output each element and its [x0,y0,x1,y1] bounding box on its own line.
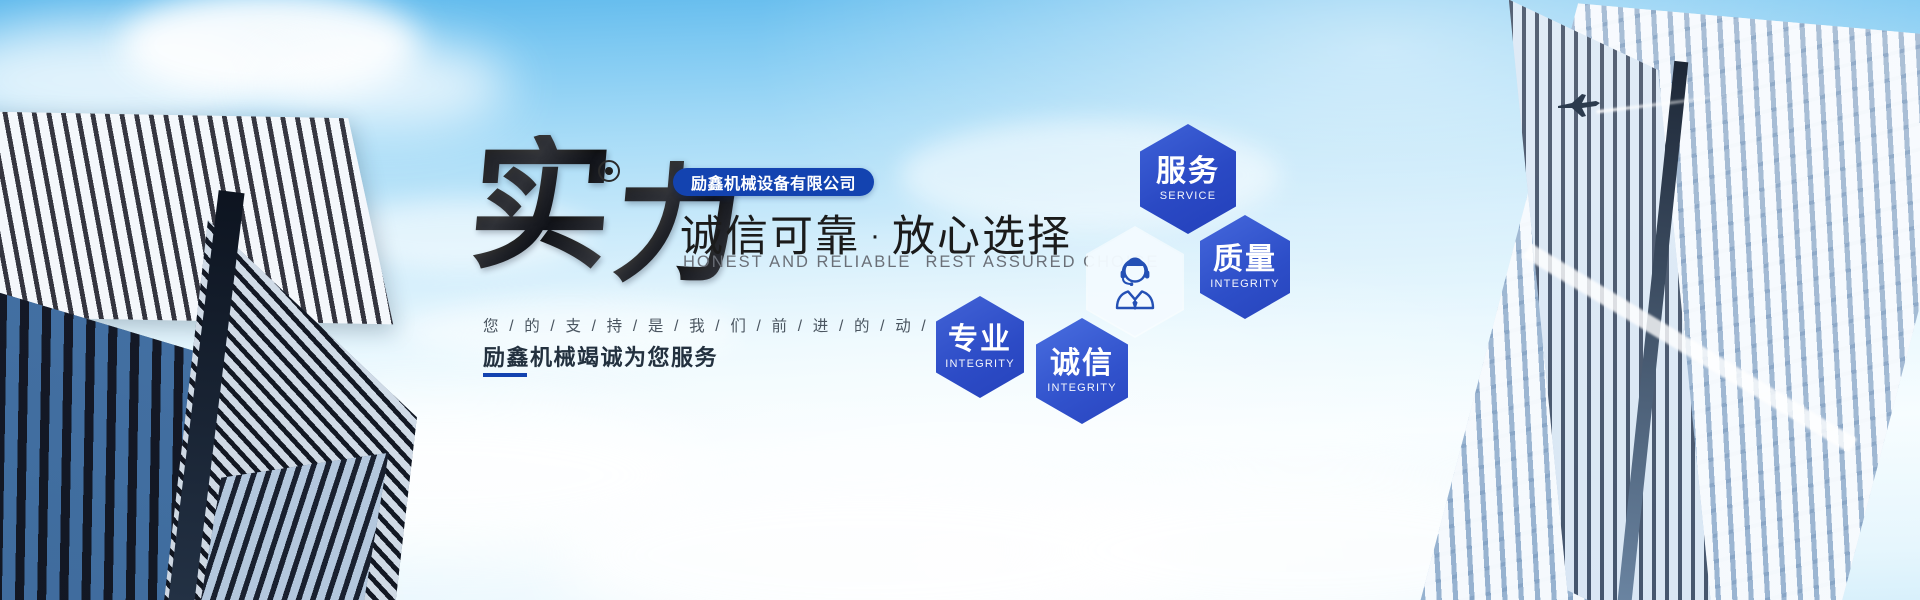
hex-label-en: INTEGRITY [945,358,1014,370]
left-skyscraper [0,70,430,600]
page-title: 实 力 [470,135,700,300]
promotional-banner: 实 力 励鑫机械设备有限公司 诚信可靠·放心选择 HONEST AND RELI… [0,0,1920,600]
building-roof-face [0,110,393,324]
tagline-separator: · [860,219,892,252]
airplane-icon [1556,92,1602,118]
hex-label-cn: 质量 [1213,244,1277,276]
hex-label-cn: 诚信 [1050,348,1114,380]
hex-label-cn: 专业 [948,324,1012,356]
right-skyscraper [1520,40,1920,600]
hex-label-en: INTEGRITY [1210,278,1279,290]
customer-service-agent-icon [1108,254,1162,310]
hex-label-en: SERVICE [1160,190,1217,202]
support-slogan: 您 / 的 / 支 / 持 / 是 / 我 / 们 / 前 / 进 / 的 / … [483,314,955,336]
headline-char-1: 实 [464,135,614,277]
hex-label-cn: 服务 [1156,156,1220,188]
service-slogan: 励鑫机械竭诚为您服务 [483,340,718,372]
hex-label-en: INTEGRITY [1047,382,1116,394]
company-name-badge: 励鑫机械设备有限公司 [673,168,874,196]
registered-dot-icon [598,160,620,182]
tagline-en-left: HONEST AND RELIABLE [683,253,911,271]
accent-underline [483,373,527,377]
hex-badge-customer-service[interactable] [1086,226,1184,338]
